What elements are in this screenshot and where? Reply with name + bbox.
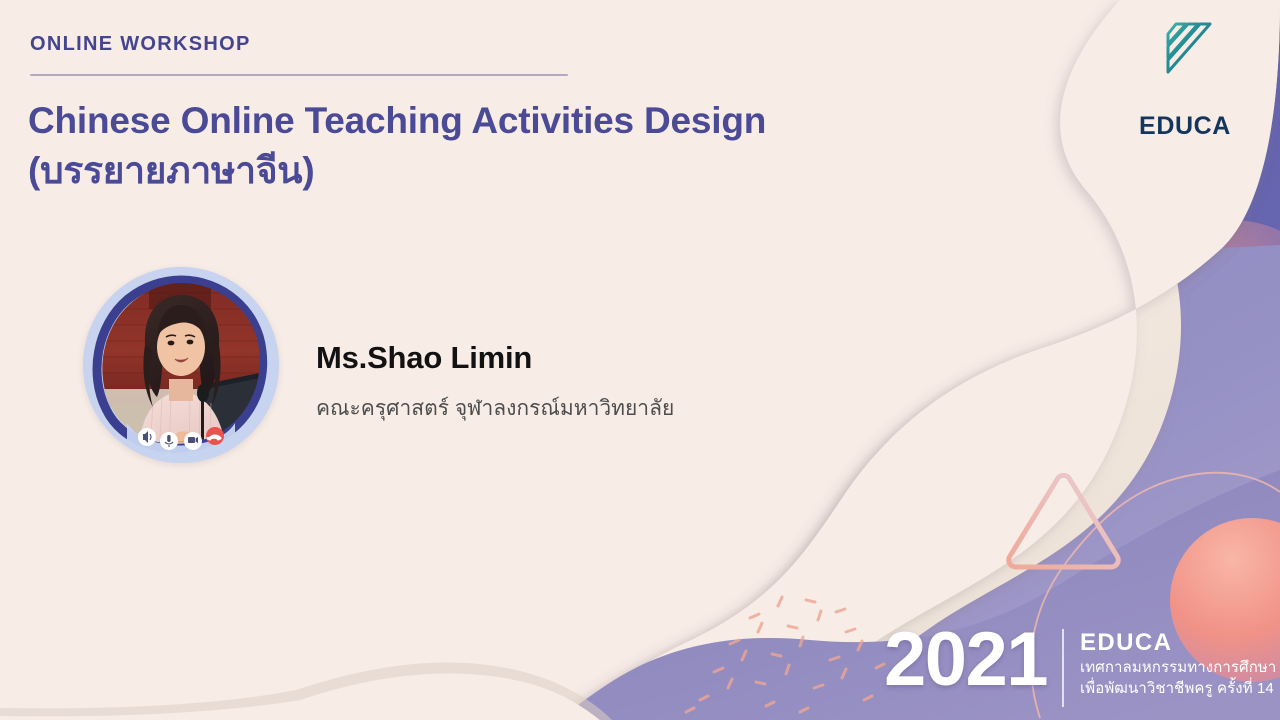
footer-brand-block: EDUCA เทศกาลมหกรรมทางการศึกษา เพื่อพัฒนา… [1080, 629, 1276, 700]
speaker-avatar [83, 267, 279, 463]
footer-tagline-line-1: เทศกาลมหกรรมทางการศึกษา [1080, 657, 1276, 679]
camera-icon[interactable] [188, 437, 198, 443]
page-title-line-2: (บรรยายภาษาจีน) [28, 146, 858, 196]
page-title: Chinese Online Teaching Activities Desig… [28, 96, 858, 196]
footer-tagline-line-2: เพื่อพัฒนาวิชาชีพครู ครั้งที่ 14 [1080, 678, 1276, 700]
educa-logo: EDUCA [1122, 22, 1248, 134]
footer-brand: EDUCA [1080, 629, 1276, 657]
footer-divider [1062, 629, 1064, 707]
educa-wordmark: EDUCA [1122, 112, 1248, 141]
speaker-photo [83, 267, 279, 463]
kicker-divider [30, 74, 568, 76]
page-title-line-1: Chinese Online Teaching Activities Desig… [28, 96, 858, 146]
speaker-name: Ms.Shao Limin [316, 340, 532, 376]
educa-chevron-mark [1156, 22, 1218, 84]
event-year: 2021 [884, 622, 1047, 698]
slide-canvas: ONLINE WORKSHOP Chinese Online Teaching … [0, 0, 1280, 720]
speaker-affiliation: คณะครุศาสตร์ จุฬาลงกรณ์มหาวิทยาลัย [316, 392, 674, 425]
kicker-label: ONLINE WORKSHOP [30, 33, 251, 56]
